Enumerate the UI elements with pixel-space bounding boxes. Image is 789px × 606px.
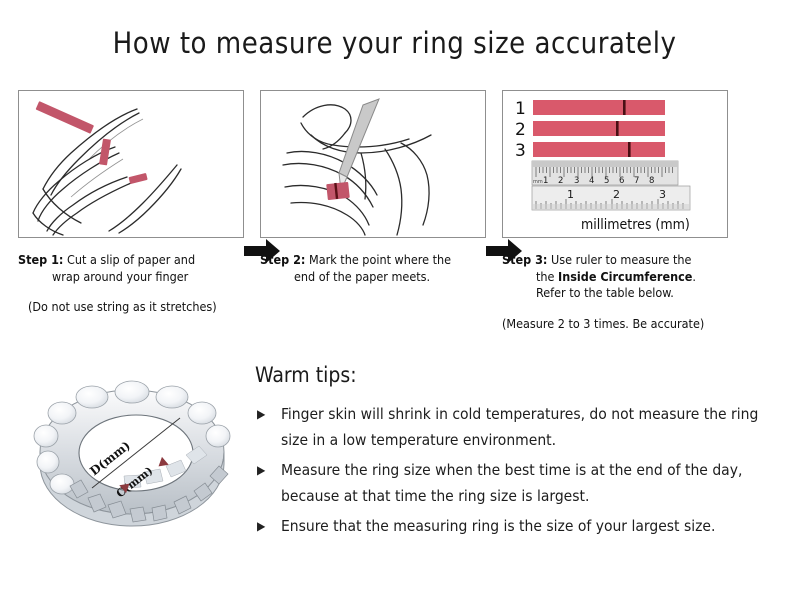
strip-number-3: 3 [515, 141, 526, 161]
step-3-caption: Step 3: Use ruler to measure the the Ins… [502, 252, 730, 302]
tip-item-3: ▶ Ensure that the measuring ring is the … [255, 513, 760, 539]
bullet-triangle-icon: ▶ [257, 513, 265, 539]
svg-text:1: 1 [543, 176, 548, 186]
page-title: How to measure your ring size accurately [0, 26, 789, 60]
step-2-column: Step 2: Mark the point where the end of … [260, 90, 488, 285]
svg-text:8: 8 [649, 176, 654, 186]
step-3-line2-pre: the [536, 269, 558, 284]
tip-text-2: Measure the ring size when the best time… [281, 461, 742, 505]
svg-text:1: 1 [567, 188, 574, 201]
step-2-text-line2: end of the paper meets. [260, 269, 488, 286]
step-3-note: (Measure 2 to 3 times. Be accurate) [502, 316, 730, 331]
step-2-caption: Step 2: Mark the point where the end of … [260, 252, 488, 285]
tip-item-2: ▶ Measure the ring size when the best ti… [255, 457, 760, 509]
bullet-triangle-icon: ▶ [257, 457, 265, 483]
tip-text-1: Finger skin will shrink in cold temperat… [281, 405, 758, 449]
step-1-caption: Step 1: Cut a slip of paper and wrap aro… [18, 252, 246, 285]
svg-text:2: 2 [613, 188, 620, 201]
step-1-panel [18, 90, 244, 238]
bullet-triangle-icon: ▶ [257, 401, 265, 427]
warm-tips-section: Warm tips: ▶ Finger skin will shrink in … [255, 363, 760, 543]
ruler-and-strips-icon: 1 2 3 [503, 91, 727, 237]
strip-number-2: 2 [515, 120, 526, 140]
step-3-text-line2: the Inside Circumference. [502, 269, 730, 286]
metric-ruler: 123 456 78 mm [532, 161, 678, 186]
svg-text:mm: mm [533, 179, 543, 185]
svg-text:6: 6 [619, 176, 624, 186]
step-1-label: Step 1: [18, 252, 63, 267]
step-2-text-line1: Mark the point where the [309, 252, 451, 267]
step-3-text-line3: Refer to the table below. [502, 285, 730, 302]
step-3-panel: 1 2 3 [502, 90, 728, 238]
ring-diagram: D(mm) C(mm) [24, 352, 244, 552]
svg-text:2: 2 [558, 176, 563, 186]
svg-text:4: 4 [589, 176, 594, 186]
tip-text-3: Ensure that the measuring ring is the si… [281, 517, 715, 535]
svg-text:3: 3 [659, 188, 666, 201]
ruler-unit-label: millimetres (mm) [581, 217, 690, 233]
warm-tips-heading: Warm tips: [255, 363, 760, 387]
svg-text:3: 3 [574, 176, 579, 186]
step-1-text-line2: wrap around your finger [18, 269, 246, 286]
svg-text:7: 7 [634, 176, 639, 186]
strip-number-1: 1 [515, 99, 526, 119]
step-3-line2-bold: Inside Circumference [558, 269, 692, 284]
hand-with-paper-strip-icon [19, 91, 243, 237]
step-2-panel [260, 90, 486, 238]
step-1-note: (Do not use string as it stretches) [18, 299, 246, 314]
steps-row: Step 1: Cut a slip of paper and wrap aro… [18, 90, 770, 336]
marking-paper-with-pen-icon [261, 91, 485, 237]
eternity-ring-icon: D(mm) C(mm) [24, 352, 244, 552]
step-1-column: Step 1: Cut a slip of paper and wrap aro… [18, 90, 246, 314]
step-3-line2-post: . [692, 269, 696, 284]
tip-item-1: ▶ Finger skin will shrink in cold temper… [255, 401, 760, 453]
step-2-label: Step 2: [260, 252, 305, 267]
step-3-column: 1 2 3 [502, 90, 730, 331]
step-1-text-line1: Cut a slip of paper and [67, 252, 195, 267]
imperial-ruler: 123 [532, 186, 690, 210]
svg-text:5: 5 [604, 176, 609, 186]
step-3-text-line1: Use ruler to measure the [551, 252, 691, 267]
step-3-label: Step 3: [502, 252, 547, 267]
